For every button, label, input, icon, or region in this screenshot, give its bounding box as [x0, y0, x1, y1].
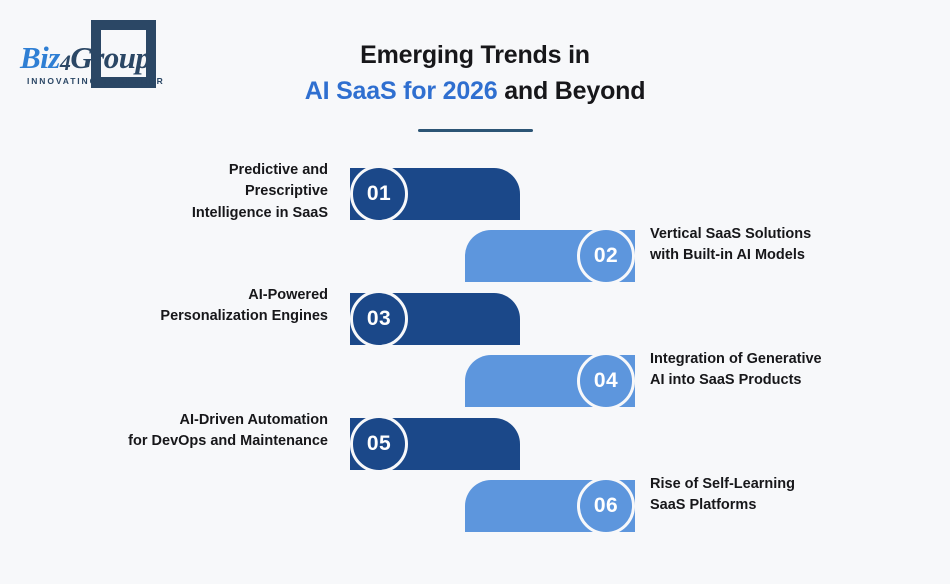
trend-label-05: AI-Driven Automation for DevOps and Main…	[68, 410, 328, 453]
trend-item-06: 06 Rise of Self-Learning SaaS Platforms	[0, 472, 950, 542]
trend-label-line: Predictive and	[68, 160, 328, 181]
trend-label-line: Integration of Generative	[650, 349, 925, 370]
trend-label-line: AI into SaaS Products	[650, 370, 925, 391]
trend-label-02: Vertical SaaS Solutions with Built-in AI…	[650, 224, 925, 267]
trend-number-01: 01	[350, 165, 408, 223]
trend-item-05: AI-Driven Automation for DevOps and Main…	[0, 410, 950, 480]
trend-number-05: 05	[350, 415, 408, 473]
trend-item-01: Predictive and Prescriptive Intelligence…	[0, 160, 950, 230]
title-line-1: Emerging Trends in	[360, 41, 590, 69]
title-line-2-rest: and Beyond	[497, 77, 645, 105]
trend-label-03: AI-Powered Personalization Engines	[68, 285, 328, 328]
trend-label-01: Predictive and Prescriptive Intelligence…	[68, 160, 328, 224]
title-underline-rule	[418, 129, 533, 132]
trend-number-02: 02	[577, 227, 635, 285]
trend-number-06: 06	[577, 477, 635, 535]
trend-label-line: Rise of Self-Learning	[650, 474, 925, 495]
trend-label-04: Integration of Generative AI into SaaS P…	[650, 349, 925, 392]
trend-number-04: 04	[577, 352, 635, 410]
title-accent: AI SaaS for 2026	[305, 77, 498, 105]
trend-item-02: 02 Vertical SaaS Solutions with Built-in…	[0, 222, 950, 292]
trend-number-03: 03	[350, 290, 408, 348]
trend-label-line: with Built-in AI Models	[650, 245, 925, 266]
trend-label-line: Personalization Engines	[68, 306, 328, 327]
page-header: Emerging Trends in AI SaaS for 2026 and …	[0, 38, 950, 132]
trend-label-line: Prescriptive	[68, 181, 328, 202]
trend-label-06: Rise of Self-Learning SaaS Platforms	[650, 474, 925, 517]
trend-item-04: 04 Integration of Generative AI into Saa…	[0, 347, 950, 417]
trend-label-line: Vertical SaaS Solutions	[650, 224, 925, 245]
trend-label-line: SaaS Platforms	[650, 495, 925, 516]
trend-label-line: for DevOps and Maintenance	[68, 431, 328, 452]
page-title: Emerging Trends in AI SaaS for 2026 and …	[0, 38, 950, 109]
trend-label-line: AI-Powered	[68, 285, 328, 306]
trend-item-03: AI-Powered Personalization Engines 03	[0, 285, 950, 355]
trend-label-line: AI-Driven Automation	[68, 410, 328, 431]
